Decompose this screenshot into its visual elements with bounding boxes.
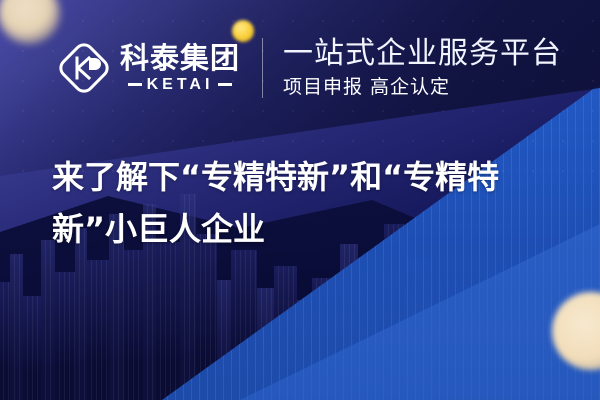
logo-wordmark: 科泰集团 KETAI	[120, 44, 240, 93]
page-title: 来了解下“专精特新”和“专精特新”小巨人企业	[52, 152, 562, 256]
banner-content: 科泰集团 KETAI 一站式企业服务平台 项目申报 高企认定 来了解下“专精特新…	[0, 0, 600, 400]
ketai-diamond-monogram-icon	[56, 40, 112, 96]
logo-name-cn: 科泰集团	[120, 44, 240, 73]
slogan-main: 一站式企业服务平台	[283, 38, 562, 70]
promo-banner: 科泰集团 KETAI 一站式企业服务平台 项目申报 高企认定 来了解下“专精特新…	[0, 0, 600, 400]
logo-dash-right-icon	[218, 83, 232, 86]
logo-name-en-row: KETAI	[128, 77, 233, 93]
logo-dash-left-icon	[128, 83, 142, 86]
brand-header: 科泰集团 KETAI 一站式企业服务平台 项目申报 高企认定	[56, 38, 562, 98]
header-divider	[262, 38, 263, 98]
slogan-block: 一站式企业服务平台 项目申报 高企认定	[283, 38, 562, 97]
logo-name-en: KETAI	[147, 77, 214, 93]
slogan-sub: 项目申报 高企认定	[283, 77, 562, 98]
